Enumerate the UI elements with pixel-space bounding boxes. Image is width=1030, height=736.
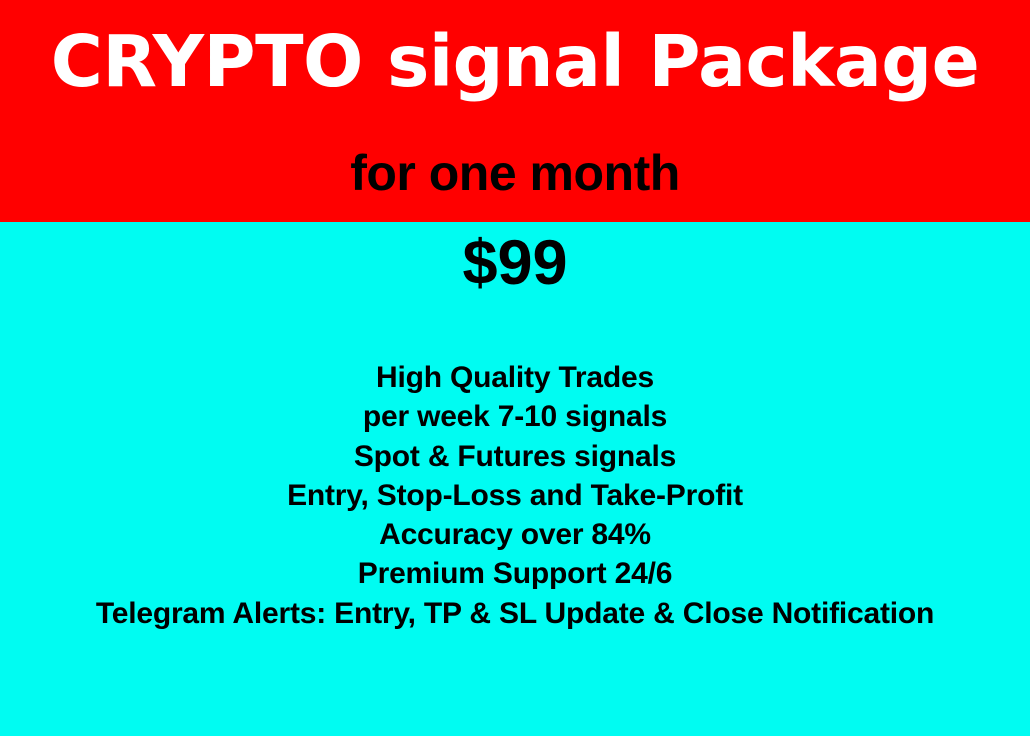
feature-item: Telegram Alerts: Entry, TP & SL Update &… xyxy=(0,594,1030,633)
price-amount: $99 xyxy=(0,227,1030,299)
feature-item: Accuracy over 84% xyxy=(0,515,1030,554)
feature-item: High Quality Trades xyxy=(0,358,1030,397)
package-title: CRYPTO signal Package xyxy=(0,19,1030,105)
feature-list: High Quality Trades per week 7-10 signal… xyxy=(0,358,1030,633)
feature-item: Entry, Stop-Loss and Take-Profit xyxy=(0,476,1030,515)
header-banner: CRYPTO signal Package for one month xyxy=(0,0,1030,222)
feature-item: Spot & Futures signals xyxy=(0,437,1030,476)
pricing-card: CRYPTO signal Package for one month $99 … xyxy=(0,0,1030,736)
package-duration: for one month xyxy=(0,142,1030,204)
feature-item: per week 7-10 signals xyxy=(0,397,1030,436)
feature-item: Premium Support 24/6 xyxy=(0,554,1030,593)
